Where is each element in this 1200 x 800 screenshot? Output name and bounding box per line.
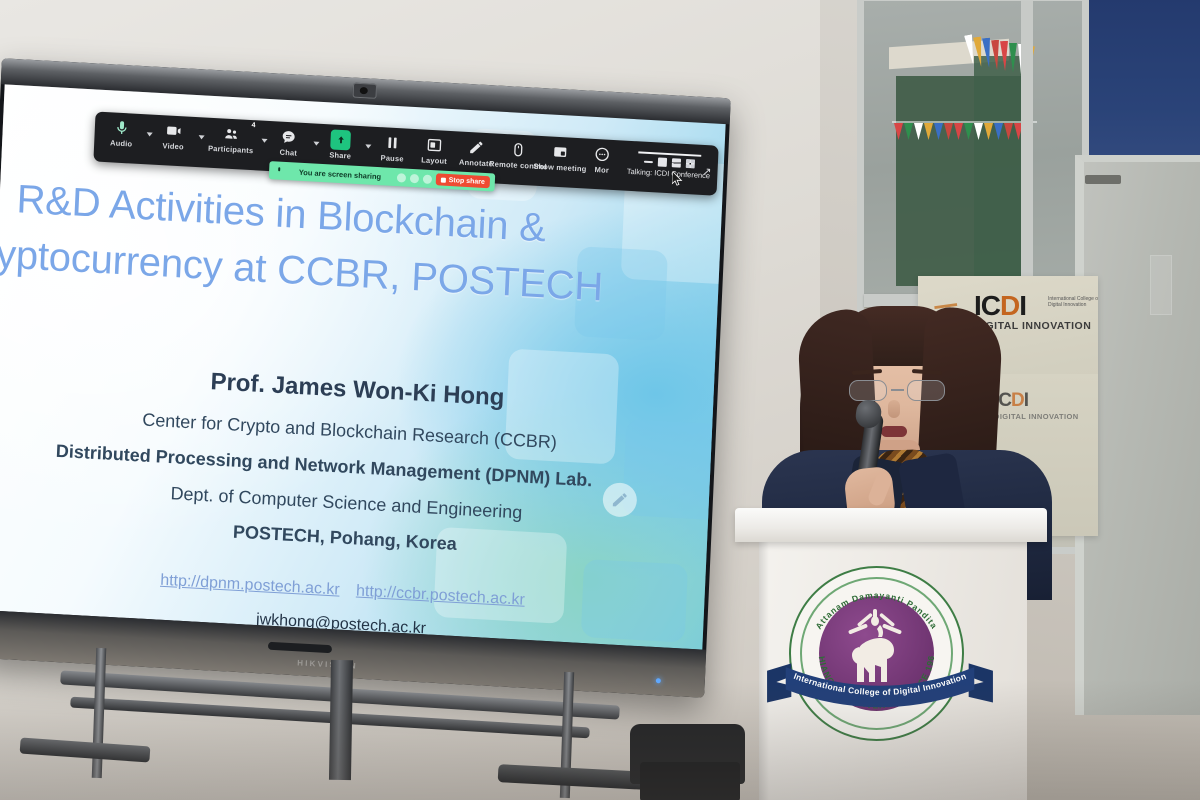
eyeglass-lens-left — [849, 380, 887, 401]
pause-icon — [384, 133, 401, 152]
flag-pennant — [991, 39, 1001, 69]
grid-view-icon[interactable] — [685, 159, 694, 168]
chat-bubble-icon — [281, 128, 298, 147]
flag-pennant — [914, 123, 923, 140]
toolbar-label-participants: Participants — [208, 144, 254, 155]
door-reflection — [1150, 255, 1172, 315]
eyeglass-bridge — [891, 389, 904, 391]
participants-count-badge: 4 — [251, 122, 255, 129]
pause-small-icon[interactable] — [410, 173, 419, 182]
mic-small-icon — [274, 161, 284, 179]
screen-share-status-text: You are screen sharing — [287, 167, 393, 182]
expand-icon[interactable]: ↗ — [702, 165, 712, 178]
eyeglass-lens-right — [907, 380, 945, 401]
slide-link-dpnm[interactable]: http://dpnm.postech.ac.kr — [160, 572, 340, 599]
speaker-icon[interactable] — [397, 173, 406, 182]
webcam-icon — [352, 83, 377, 99]
mouse-icon — [510, 140, 527, 159]
flag-pennant — [974, 123, 983, 140]
toolbar-label-share: Share — [329, 150, 351, 160]
screen-share-content: R&D Activities in Blockchain & Cryptocur… — [0, 84, 726, 649]
flag-pennant — [1004, 123, 1013, 140]
toolbar-button-chat[interactable]: Chat — [267, 125, 310, 158]
presenter-mouth — [881, 426, 907, 437]
conference-room-photo: 〒 ICDI DIGITAL INNOVATION International … — [0, 0, 1200, 800]
stop-square-icon — [441, 177, 446, 182]
wall-upper-navy-panel — [1085, 0, 1200, 156]
flag-pennant — [964, 123, 973, 140]
toolbar-button-more[interactable]: Mor — [581, 142, 624, 175]
toolbar-label-video: Video — [162, 141, 184, 151]
flag-pennant — [984, 123, 993, 140]
single-view-icon[interactable] — [657, 157, 666, 166]
presenter-nose — [888, 400, 900, 418]
wall-display: R&D Activities in Blockchain & Cryptocur… — [0, 78, 728, 698]
share-screen-icon — [331, 130, 352, 149]
floor-shadow — [0, 680, 1200, 800]
view-mode-switcher[interactable] — [637, 151, 701, 168]
door-handle[interactable] — [1085, 175, 1121, 184]
flag-pennant — [894, 123, 903, 140]
ir-sensor — [268, 642, 332, 654]
toolbar-button-show-meeting[interactable]: Show meeting — [539, 140, 582, 173]
toolbar-label-show-meeting: Show meeting — [533, 162, 587, 174]
show-meeting-icon — [552, 143, 569, 162]
toolbar-button-participants[interactable]: 4 Participants — [204, 122, 259, 156]
slide-link-ccbr[interactable]: http://ccbr.postech.ac.kr — [356, 582, 525, 608]
mic-small-icon[interactable] — [423, 174, 432, 183]
toolbar-label-more: Mor — [594, 165, 609, 175]
participants-icon — [223, 125, 240, 144]
toolbar-label-chat: Chat — [279, 148, 297, 158]
flag-pennant — [1000, 41, 1009, 71]
flag-pennant — [934, 123, 943, 140]
toolbar-button-share[interactable]: Share — [319, 128, 362, 161]
toolbar-label-layout: Layout — [421, 155, 447, 165]
toolbar-button-video[interactable]: Video — [152, 119, 195, 152]
eyeglasses-icon — [847, 380, 947, 402]
mouse-pointer-icon — [672, 171, 684, 191]
flag-pennant — [944, 123, 953, 140]
flag-pennant — [954, 123, 963, 140]
flag-pennant — [904, 123, 913, 140]
split-view-icon[interactable] — [671, 158, 680, 167]
podium-top-surface — [735, 508, 1047, 542]
flag-pennant — [994, 123, 1003, 140]
toolbar-label-audio: Audio — [110, 138, 133, 148]
stop-share-button[interactable]: Stop share — [435, 173, 490, 188]
stop-share-label: Stop share — [449, 176, 485, 185]
more-icon — [594, 145, 611, 164]
video-camera-icon — [165, 121, 182, 140]
layout-icon — [426, 136, 443, 155]
toolbar-button-audio[interactable]: Audio — [100, 116, 143, 149]
minimize-icon[interactable] — [643, 160, 652, 162]
flag-bunting-icon — [894, 123, 1034, 143]
toolbar-button-layout[interactable]: Layout — [413, 133, 456, 166]
flag-pennant — [1009, 43, 1017, 73]
pencil-icon — [468, 138, 485, 157]
flag-pennant — [924, 123, 933, 140]
talking-label: Talking: ICDI Conference — [627, 167, 711, 181]
display-body: R&D Activities in Blockchain & Cryptocur… — [0, 58, 731, 698]
microphone-icon — [114, 119, 131, 138]
toolbar-button-pause[interactable]: Pause — [371, 131, 414, 164]
toolbar-label-pause: Pause — [380, 153, 403, 163]
